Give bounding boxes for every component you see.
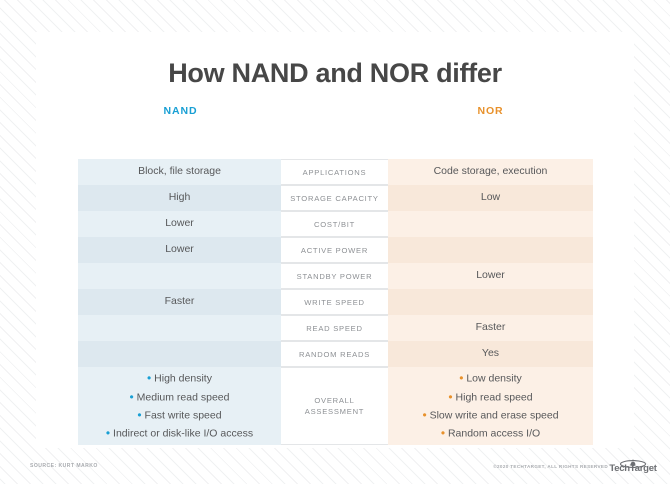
cell-nand: Faster bbox=[78, 289, 281, 315]
table-row-overall-assessment: • High density • Medium read speed • Fas… bbox=[78, 367, 593, 445]
list-item: • Indirect or disk-like I/O access bbox=[106, 424, 253, 442]
list-item: • High density bbox=[147, 369, 212, 387]
cell-nand-assessment: • High density • Medium read speed • Fas… bbox=[78, 367, 281, 445]
cell-nand: Lower bbox=[78, 211, 281, 237]
cell-nor: Low bbox=[388, 185, 593, 211]
column-headers: NAND NOR bbox=[36, 105, 634, 131]
cell-nor-assessment: • Low density • High read speed • Slow w… bbox=[388, 367, 593, 445]
cell-nand bbox=[78, 315, 281, 341]
list-item: • Medium read speed bbox=[130, 388, 230, 406]
cell-nand bbox=[78, 341, 281, 367]
bullet-icon: • bbox=[459, 371, 463, 385]
table-row: High STORAGE CAPACITY Low bbox=[78, 185, 593, 211]
cell-nor: Code storage, execution bbox=[388, 159, 593, 185]
bullet-icon: • bbox=[137, 408, 141, 422]
cell-nor bbox=[388, 211, 593, 237]
bullet-icon: • bbox=[422, 408, 426, 422]
list-item: • Random access I/O bbox=[441, 424, 540, 442]
copyright-notice: ©2020 TECHTARGET, ALL RIGHTS RESERVED bbox=[493, 464, 608, 469]
cell-nand bbox=[78, 263, 281, 289]
techtarget-wordmark: TechTarget bbox=[609, 463, 657, 474]
table-row: RANDOM READS Yes bbox=[78, 341, 593, 367]
cell-attribute: COST/BIT bbox=[281, 211, 388, 237]
bullet-icon: • bbox=[147, 371, 151, 385]
bullet-icon: • bbox=[441, 426, 445, 440]
page-title: How NAND and NOR differ bbox=[36, 58, 634, 89]
cell-attribute-overall: OVERALL ASSESSMENT bbox=[281, 367, 388, 445]
techtarget-logo: TechTarget bbox=[609, 455, 657, 474]
cell-attribute: STORAGE CAPACITY bbox=[281, 185, 388, 211]
infographic-card: How NAND and NOR differ NAND NOR Block, … bbox=[36, 32, 634, 448]
column-header-nand: NAND bbox=[78, 105, 283, 117]
source-credit: SOURCE: KURT MARKO bbox=[30, 463, 98, 469]
table-row: Block, file storage APPLICATIONS Code st… bbox=[78, 159, 593, 185]
table-row: Faster WRITE SPEED bbox=[78, 289, 593, 315]
cell-nor: Lower bbox=[388, 263, 593, 289]
cell-nand: Block, file storage bbox=[78, 159, 281, 185]
cell-nor: Faster bbox=[388, 315, 593, 341]
table-row: READ SPEED Faster bbox=[78, 315, 593, 341]
cell-attribute: APPLICATIONS bbox=[281, 159, 388, 185]
cell-attribute: ACTIVE POWER bbox=[281, 237, 388, 263]
table-row: STANDBY POWER Lower bbox=[78, 263, 593, 289]
list-item: • High read speed bbox=[448, 388, 532, 406]
overall-label-line1: OVERALL bbox=[314, 395, 354, 406]
list-item: • Fast write speed bbox=[137, 406, 221, 424]
list-item: • Low density bbox=[459, 369, 522, 387]
bullet-icon: • bbox=[130, 390, 134, 404]
cell-attribute: WRITE SPEED bbox=[281, 289, 388, 315]
cell-attribute: STANDBY POWER bbox=[281, 263, 388, 289]
cell-nor: Yes bbox=[388, 341, 593, 367]
comparison-table: Block, file storage APPLICATIONS Code st… bbox=[78, 159, 593, 445]
cell-attribute: RANDOM READS bbox=[281, 341, 388, 367]
overall-label-line2: ASSESSMENT bbox=[305, 406, 364, 417]
bullet-icon: • bbox=[106, 426, 110, 440]
table-row: Lower ACTIVE POWER bbox=[78, 237, 593, 263]
column-header-nor: NOR bbox=[388, 105, 593, 117]
table-row: Lower COST/BIT bbox=[78, 211, 593, 237]
cell-attribute: READ SPEED bbox=[281, 315, 388, 341]
cell-nor bbox=[388, 289, 593, 315]
cell-nand: High bbox=[78, 185, 281, 211]
cell-nand: Lower bbox=[78, 237, 281, 263]
bullet-icon: • bbox=[448, 390, 452, 404]
list-item: • Slow write and erase speed bbox=[422, 406, 558, 424]
cell-nor bbox=[388, 237, 593, 263]
